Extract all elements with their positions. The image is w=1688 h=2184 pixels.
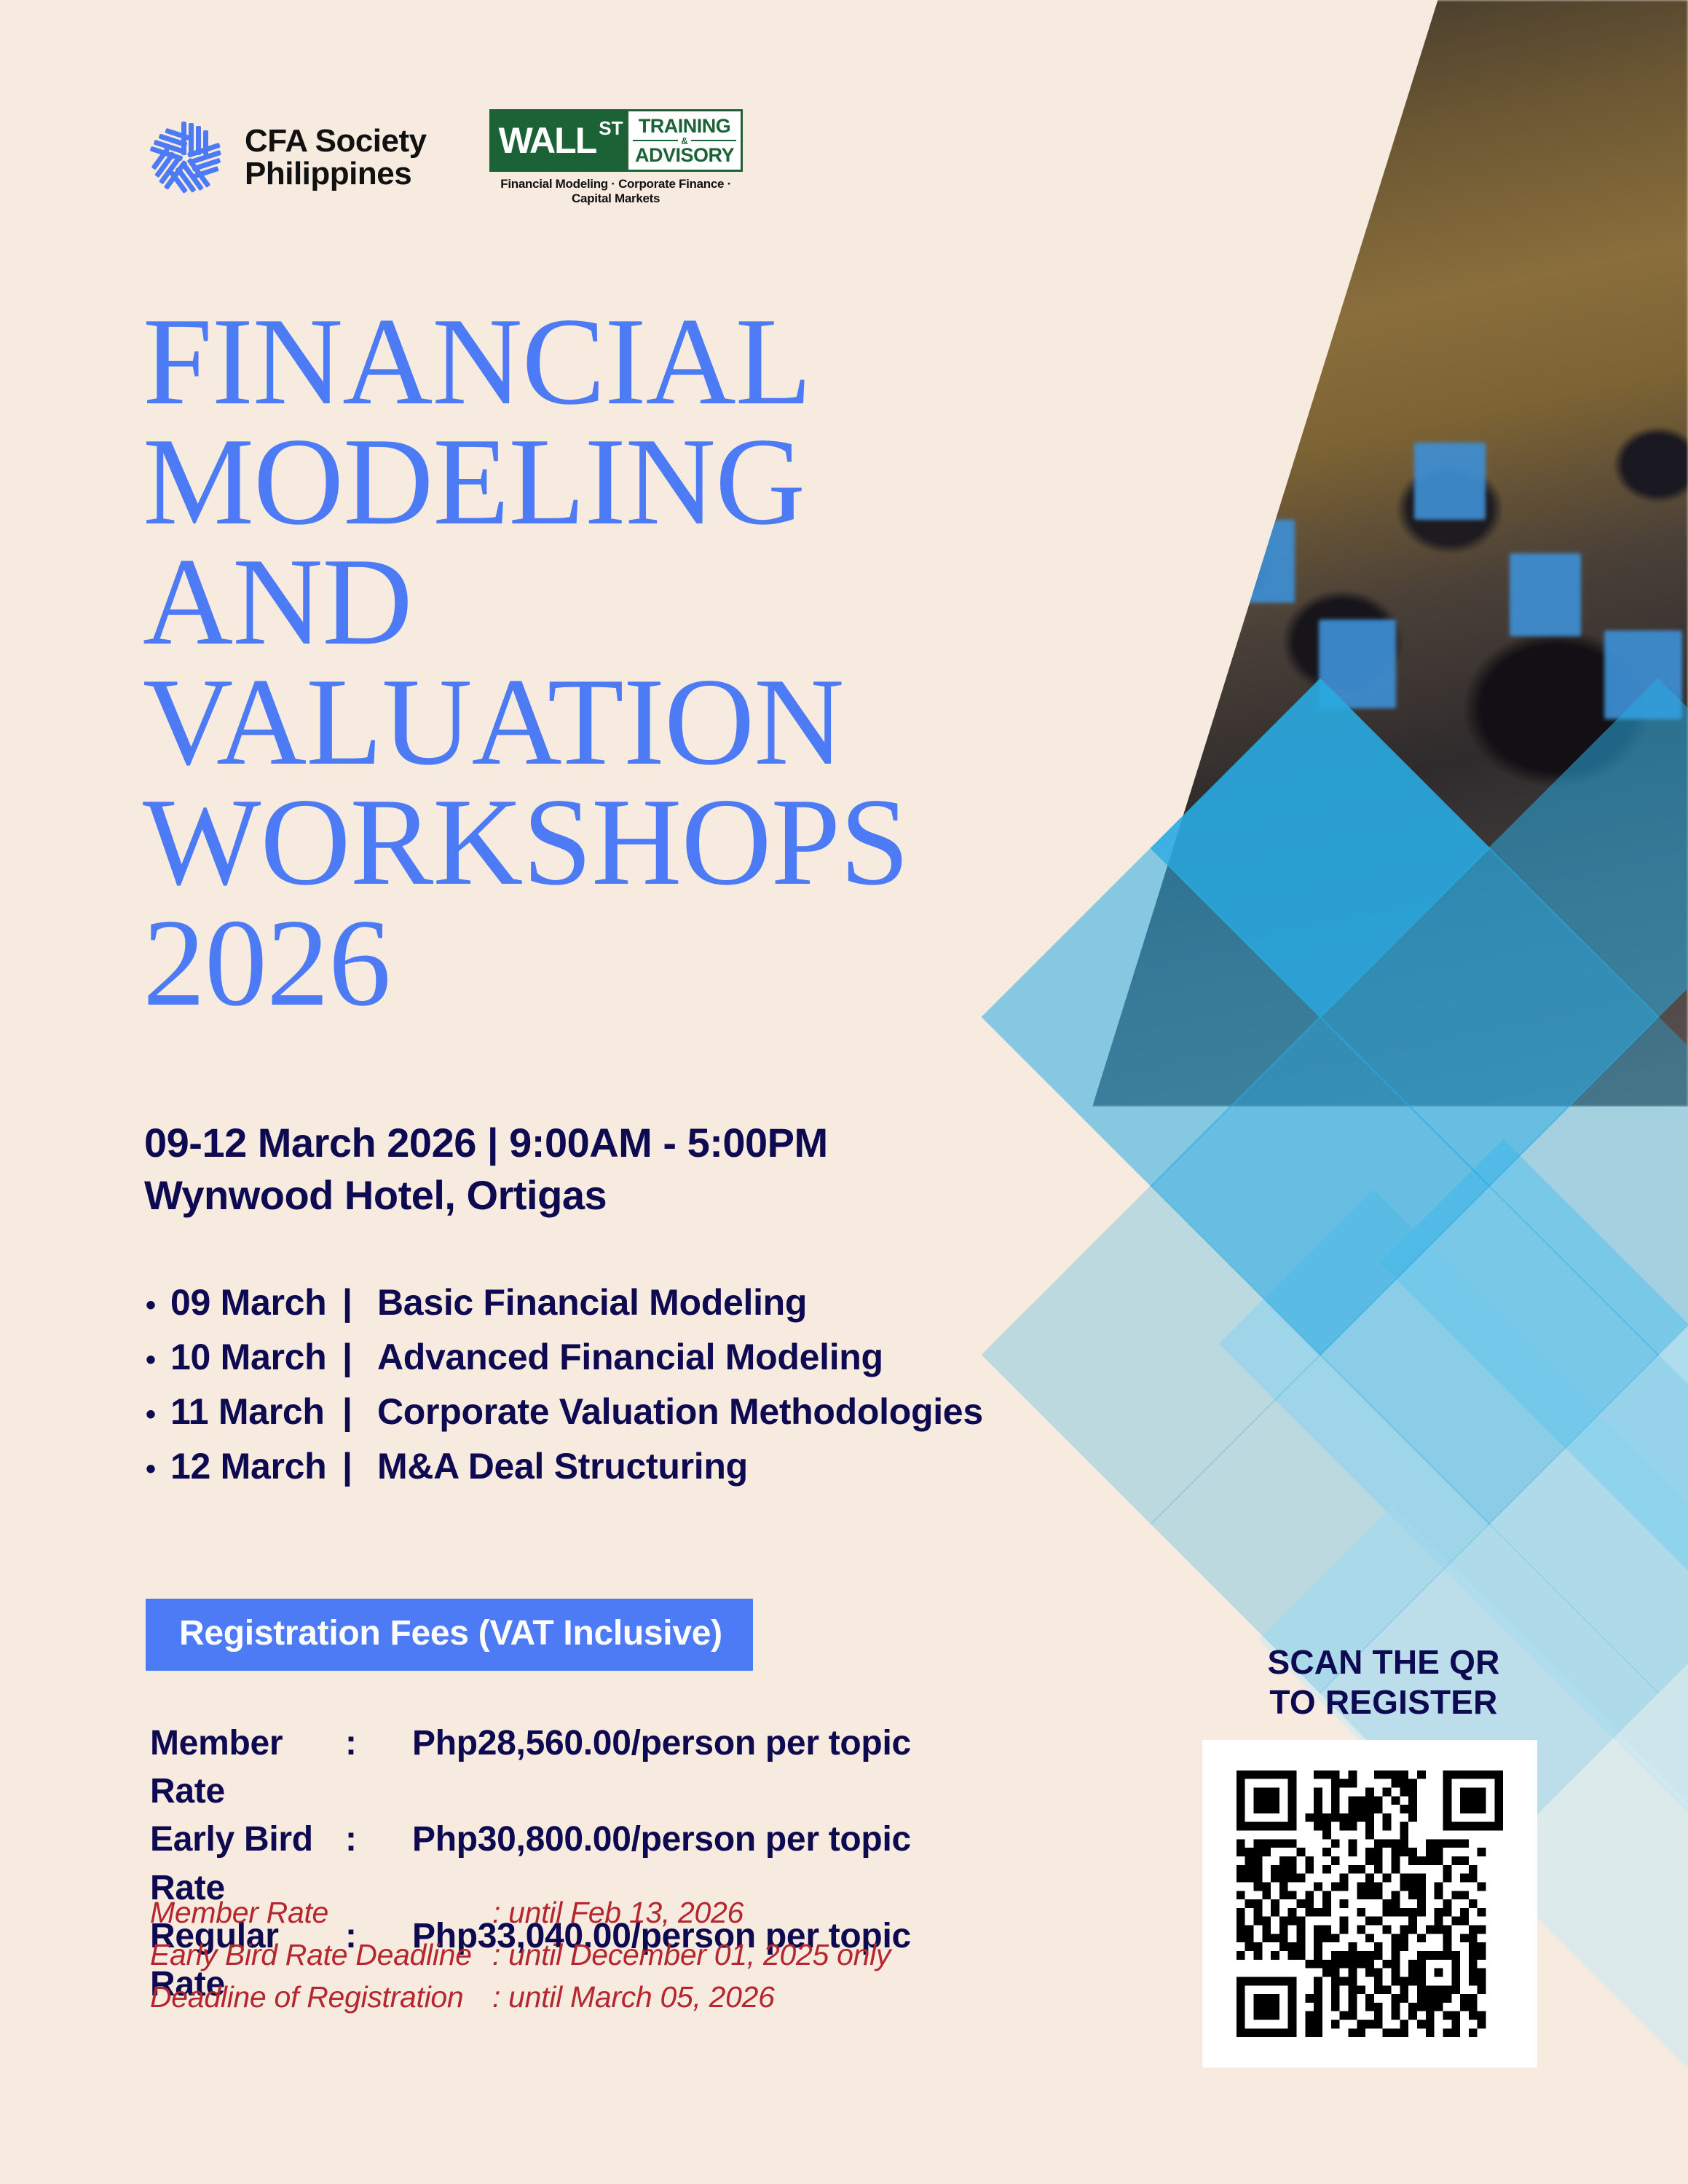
wall-st-training-logo: WALL ST TRAINING & ADVISORY Financial Mo… xyxy=(489,109,743,206)
bullet-icon: • xyxy=(146,1291,170,1320)
wall-st-wall-text: WALL xyxy=(499,122,596,159)
list-item: • 10 March | Advanced Financial Modeling xyxy=(146,1330,983,1385)
cfa-logo-line1: CFA Society xyxy=(245,125,427,158)
photo-laptop-screen xyxy=(1414,443,1486,520)
qr-code-card[interactable] xyxy=(1202,1740,1537,2068)
cfa-logo-line2: Philippines xyxy=(245,158,427,191)
fee-value: Php30,800.00/person per topic xyxy=(412,1816,911,1864)
cfa-pinwheel-icon xyxy=(143,115,229,201)
schedule-list: • 09 March | Basic Financial Modeling • … xyxy=(146,1275,983,1494)
qr-code-icon[interactable] xyxy=(1228,1762,1512,2046)
cfa-society-logo: CFA Society Philippines xyxy=(143,115,427,201)
title-line-2: MODELING xyxy=(143,422,1038,542)
qr-call-to-action: SCAN THE QR TO REGISTER xyxy=(1238,1642,1529,1722)
photo-backdrop-banner xyxy=(1104,177,1223,420)
fee-colon: : xyxy=(345,1816,412,1864)
schedule-date: 09 March xyxy=(170,1275,342,1330)
deadline-label: Deadline of Registration xyxy=(150,1976,492,2018)
wall-st-logo-right: TRAINING & ADVISORY xyxy=(628,111,740,170)
deadline-notes: Member Rate : until Feb 13, 2026 Early B… xyxy=(150,1891,891,2019)
qr-cta-line1: SCAN THE QR xyxy=(1238,1642,1529,1682)
qr-cta-line2: TO REGISTER xyxy=(1238,1682,1529,1722)
event-venue: Wynwood Hotel, Ortigas xyxy=(144,1169,828,1222)
table-row: Member Rate : Php28,560.00/person per to… xyxy=(150,1720,911,1816)
deadline-value: : until December 01, 2025 only xyxy=(492,1934,891,1976)
wall-st-tagline: Financial Modeling · Corporate Finance ·… xyxy=(489,177,743,206)
bullet-icon: • xyxy=(146,1345,170,1374)
event-datetime: 09-12 March 2026 | 9:00AM - 5:00PM xyxy=(144,1117,828,1169)
photo-laptop-screen xyxy=(1223,520,1295,603)
schedule-date: 12 March xyxy=(170,1439,342,1494)
title-line-6: 2026 xyxy=(143,903,1038,1024)
page-title: FINANCIAL MODELING AND VALUATION WORKSHO… xyxy=(143,302,1038,1024)
list-item: • 11 March | Corporate Valuation Methodo… xyxy=(146,1385,983,1439)
schedule-separator: | xyxy=(342,1330,377,1385)
deadline-label: Member Rate xyxy=(150,1891,492,1934)
wall-st-advisory-text: ADVISORY xyxy=(635,146,734,165)
deadline-row: Deadline of Registration : until March 0… xyxy=(150,1976,891,2018)
schedule-date: 10 March xyxy=(170,1330,342,1385)
bullet-icon: • xyxy=(146,1455,170,1484)
schedule-date: 11 March xyxy=(170,1385,342,1439)
deadline-value: : until March 05, 2026 xyxy=(492,1976,891,2018)
list-item: • 09 March | Basic Financial Modeling xyxy=(146,1275,983,1330)
wall-st-st-text: ST xyxy=(599,117,623,140)
schedule-topic: M&A Deal Structuring xyxy=(377,1439,983,1494)
wall-st-logo-left: WALL ST xyxy=(492,111,629,170)
logo-row: CFA Society Philippines WALL ST TRAINING… xyxy=(143,109,743,206)
title-line-4: VALUATION xyxy=(143,662,1038,783)
poster-canvas: CFA Society Philippines WALL ST TRAINING… xyxy=(0,0,1688,2184)
fee-colon: : xyxy=(345,1720,412,1768)
photo-laptop-screen xyxy=(1128,575,1205,664)
fee-value: Php28,560.00/person per topic xyxy=(412,1720,911,1768)
bullet-icon: • xyxy=(146,1400,170,1429)
event-details: 09-12 March 2026 | 9:00AM - 5:00PM Wynwo… xyxy=(144,1117,828,1221)
photo-laptop-screen xyxy=(1188,365,1247,432)
deadline-row: Member Rate : until Feb 13, 2026 xyxy=(150,1891,891,1934)
schedule-separator: | xyxy=(342,1385,377,1439)
title-line-1: FINANCIAL xyxy=(143,302,1038,422)
title-line-3: AND xyxy=(143,542,1038,662)
cfa-society-wordmark: CFA Society Philippines xyxy=(245,125,427,191)
title-line-5: WORKSHOPS xyxy=(143,783,1038,903)
schedule-topic: Corporate Valuation Methodologies xyxy=(377,1385,983,1439)
list-item: • 12 March | M&A Deal Structuring xyxy=(146,1439,983,1494)
schedule-topic: Advanced Financial Modeling xyxy=(377,1330,983,1385)
wall-st-training-text: TRAINING xyxy=(639,116,731,136)
schedule-separator: | xyxy=(342,1275,377,1330)
fee-label: Member Rate xyxy=(150,1720,345,1816)
deadline-label: Early Bird Rate Deadline xyxy=(150,1934,492,1976)
schedule-topic: Basic Financial Modeling xyxy=(377,1275,983,1330)
deadline-value: : until Feb 13, 2026 xyxy=(492,1891,891,1934)
photo-laptop-screen xyxy=(1510,553,1581,636)
deadline-row: Early Bird Rate Deadline : until Decembe… xyxy=(150,1934,891,1976)
registration-fees-banner: Registration Fees (VAT Inclusive) xyxy=(146,1599,753,1671)
wall-st-logo-box: WALL ST TRAINING & ADVISORY xyxy=(489,109,743,172)
schedule-separator: | xyxy=(342,1439,377,1494)
